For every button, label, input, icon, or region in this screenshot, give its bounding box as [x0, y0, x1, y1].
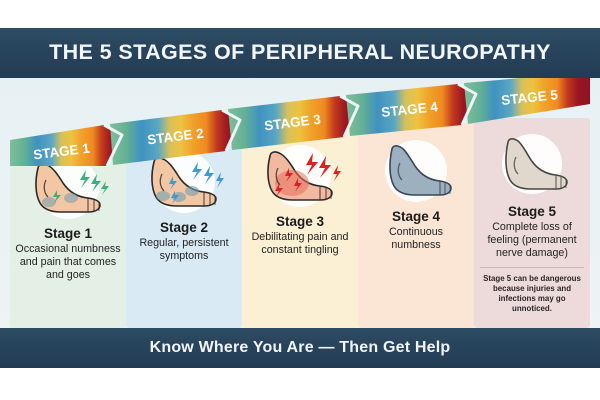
stage-panel-list: Stage 1 Occasional numbness and pain tha…	[10, 118, 590, 328]
stage-title-4: Stage 4	[363, 209, 469, 225]
stage-caption-3: Stage 3 Debilitating pain and constant t…	[242, 214, 358, 257]
foot-numb-gray-icon	[364, 133, 468, 207]
stage-description-5: Complete loss of feeling (permanent nerv…	[479, 221, 585, 260]
stage-caption-4: Stage 4 Continuous numbness	[358, 209, 474, 252]
footer-bar: Know Where You Are — Then Get Help	[0, 328, 600, 368]
stage-title-1: Stage 1	[15, 226, 121, 242]
stage-5-warning-note: Stage 5 can be dangerous because injurie…	[480, 267, 584, 318]
stage-description-3: Debilitating pain and constant tingling	[247, 231, 353, 257]
stages-board: Stage 1 Occasional numbness and pain tha…	[0, 78, 600, 328]
stage-panel-1[interactable]: Stage 1 Occasional numbness and pain tha…	[10, 140, 126, 328]
stage-panel-4[interactable]: Stage 4 Continuous numbness	[358, 123, 474, 328]
foot-green-tingling-icon	[16, 150, 120, 224]
page-title: THE 5 STAGES OF PERIPHERAL NEUROPATHY	[49, 42, 551, 64]
footer-cta-text: Know Where You Are — Then Get Help	[150, 339, 451, 357]
stage-panel-3[interactable]: Stage 3 Debilitating pain and constant t…	[242, 128, 358, 328]
header-bar: THE 5 STAGES OF PERIPHERAL NEUROPATHY	[0, 28, 600, 78]
infographic-root: THE 5 STAGES OF PERIPHERAL NEUROPATHY	[0, 0, 600, 400]
stage-description-4: Continuous numbness	[363, 226, 469, 252]
stage-title-5: Stage 5	[479, 204, 585, 220]
ribbon-label-5: STAGE 5	[501, 87, 560, 108]
foot-blue-tingling-icon	[132, 144, 236, 218]
stage-title-2: Stage 2	[131, 220, 237, 236]
foot-red-pain-icon	[248, 138, 352, 212]
ribbon-label-4: STAGE 4	[381, 99, 440, 120]
stage-panel-2[interactable]: Stage 2 Regular, persistent symptoms	[126, 134, 242, 328]
stage-title-3: Stage 3	[247, 214, 353, 230]
stage-description-2: Regular, persistent symptoms	[131, 237, 237, 263]
foot-pale-numb-icon	[480, 128, 584, 202]
stage-caption-2: Stage 2 Regular, persistent symptoms	[126, 220, 242, 263]
stage-description-1: Occasional numbness and pain that comes …	[15, 243, 121, 282]
stage-caption-1: Stage 1 Occasional numbness and pain tha…	[10, 226, 126, 282]
stage-caption-5: Stage 5 Complete loss of feeling (perman…	[474, 204, 590, 260]
stage-panel-5[interactable]: Stage 5 Complete loss of feeling (perman…	[474, 118, 590, 328]
